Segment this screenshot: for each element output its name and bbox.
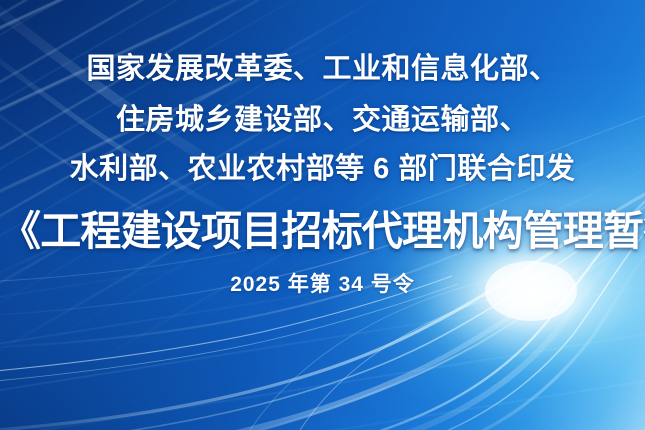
document-title: 《工程建设项目招标代理机构管理暂行办法》 — [0, 206, 645, 256]
decree-number: 2025 年第 34 号令 — [0, 272, 645, 298]
banner-text-block: 国家发展改革委、工业和信息化部、 住房城乡建设部、交通运输部、 水利部、农业农村… — [0, 0, 645, 430]
headline-line-2: 住房城乡建设部、交通运输部、 — [0, 103, 645, 137]
policy-announcement-banner: 国家发展改革委、工业和信息化部、 住房城乡建设部、交通运输部、 水利部、农业农村… — [0, 0, 645, 430]
headline-line-1: 国家发展改革委、工业和信息化部、 — [0, 52, 645, 86]
headline-line-3: 水利部、农业农村部等 6 部门联合印发 — [0, 152, 645, 186]
